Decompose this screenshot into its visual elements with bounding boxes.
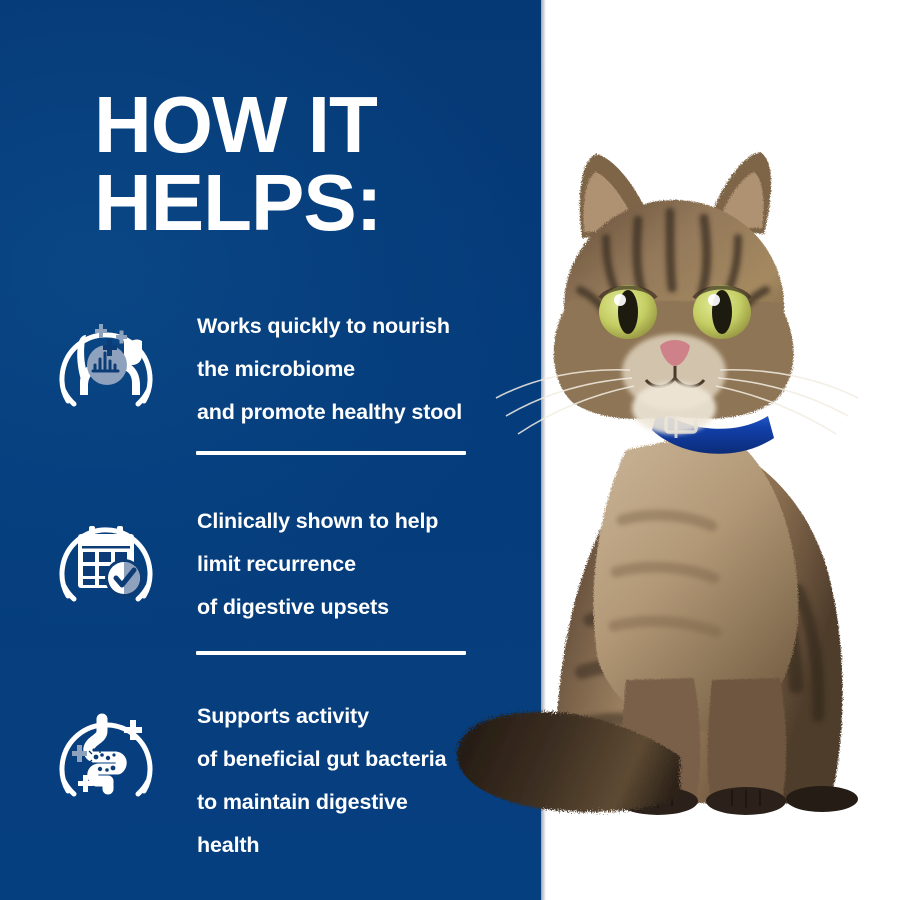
benefit-2-line-1: Clinically shown to help bbox=[197, 500, 527, 543]
intestine-bacteria-icon bbox=[50, 695, 162, 807]
cat-muzzle bbox=[622, 334, 726, 434]
benefit-divider-2 bbox=[196, 651, 466, 655]
benefit-1-line-1: Works quickly to nourish bbox=[197, 305, 527, 348]
calendar-check-icon bbox=[50, 500, 162, 612]
benefit-1-line-3: and promote healthy stool bbox=[197, 391, 527, 434]
cat-chin bbox=[632, 382, 716, 434]
cat-microbiome-icon bbox=[50, 305, 162, 417]
promo-graphic: HOW IT HELPS: bbox=[0, 0, 900, 900]
cat-tail bbox=[430, 600, 690, 840]
benefit-2-line-2: limit recurrence bbox=[197, 543, 527, 586]
benefit-divider-1 bbox=[196, 451, 466, 455]
benefit-text-1: Works quickly to nourish the microbiome … bbox=[197, 305, 527, 434]
benefit-1-line-2: the microbiome bbox=[197, 348, 527, 391]
